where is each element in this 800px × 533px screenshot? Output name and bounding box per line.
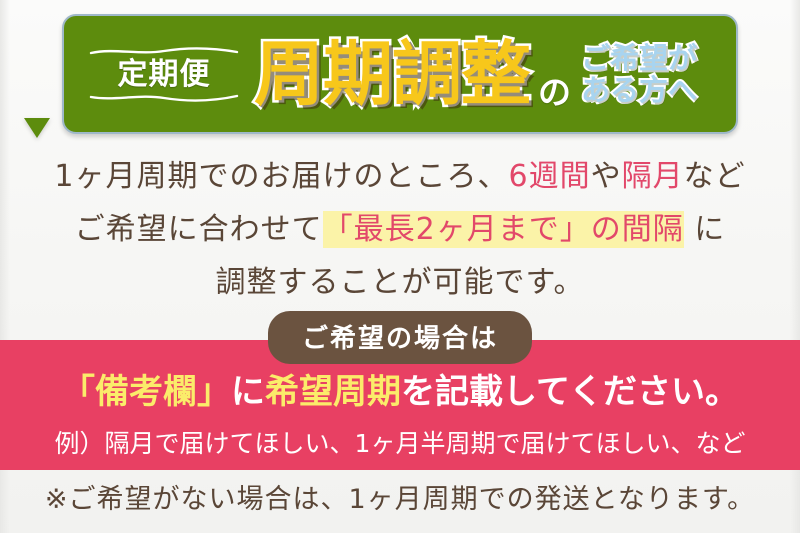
body-line1-plain-c: など [684,159,746,194]
body-line1-emph-bimonthly: 隔月 [622,159,684,194]
footer-note: ※ご希望がない場合は、1ヶ月周期での発送となります。 [0,477,800,516]
subscription-badge-label: 定期便 [118,57,211,92]
header-bubble-wrap: 定期便 周期調整 の ご希望が ある方へ [62,14,738,134]
body-line2-plain-a: ご希望に合わせて [75,212,323,247]
wave-rule-bottom-icon [89,93,239,102]
pink-instruction: 「備考欄」に希望周期を記載してください。 [0,364,800,413]
body-line-1: 1ヶ月周期でのお届けのところ、6週間や隔月など [0,150,800,203]
body-paragraph: 1ヶ月周期でのお届けのところ、6週間や隔月など ご希望に合わせて「最長2ヶ月まで… [0,150,800,309]
header-bubble: 定期便 周期調整 の ご希望が ある方へ [62,14,738,134]
header-title: 周期調整 [254,39,530,109]
body-line1-plain-b: や [591,159,622,194]
body-line-3: 調整することが可能です。 [0,256,800,309]
header-subtitle: ご希望が ある方へ [581,42,697,107]
header-title-particle: の [538,66,571,114]
pink-instruction-field: 「備考欄」 [61,372,231,412]
banner-root: 定期便 周期調整 の ご希望が ある方へ 1ヶ月周期でのお届けのところ、6週間や… [0,0,800,533]
body-line2-plain-b: に [684,212,726,247]
body-line1-emph-6weeks: 6週間 [509,159,591,194]
header-subtitle-line2: ある方へ [581,74,697,106]
pink-instruction-cycle: 希望周期 [265,372,401,412]
wave-rule-top-icon [89,47,239,56]
body-line2-highlight: 「最長2ヶ月まで」の間隔 [323,211,684,248]
body-line-2: ご希望に合わせて「最長2ヶ月まで」の間隔 に [0,203,800,256]
speech-bubble-tail-icon [24,118,50,138]
header-subtitle-line1: ご希望が [581,42,697,74]
condition-pill-badge: ご希望の場合は [268,311,532,364]
pink-instruction-plain-a: に [231,372,265,412]
subscription-badge: 定期便 [88,45,240,104]
pink-instruction-plain-b: を記載してください。 [401,372,739,412]
pink-example: 例）隔月で届けてほしい、1ヶ月半周期で届けてほしい、など [0,424,800,460]
body-line1-plain-a: 1ヶ月周期でのお届けのところ、 [54,159,508,194]
